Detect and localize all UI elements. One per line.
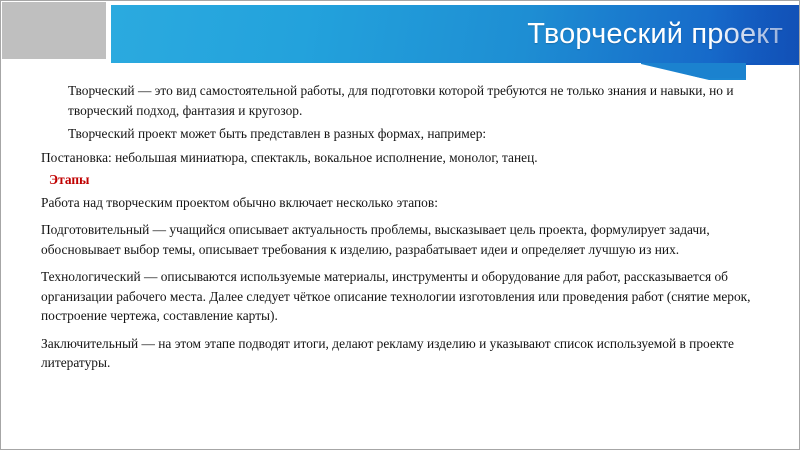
stages-heading: Этапы xyxy=(41,170,783,190)
header-tab-shape xyxy=(641,63,800,80)
stage-paragraph-final: Заключительный — на этом этапе подводят … xyxy=(41,334,783,373)
list-item: Творческий — это вид самостоятельной раб… xyxy=(41,81,783,120)
forms-line: Постановка: небольшая миниатюра, спектак… xyxy=(41,148,783,168)
header-gray-block xyxy=(2,2,106,59)
header-band: Творческий проект xyxy=(111,5,800,63)
slide-body: Творческий — это вид самостоятельной раб… xyxy=(1,81,800,373)
stage-paragraph-preparatory: Подготовительный — учащийся описывает ак… xyxy=(41,220,783,259)
list-item: Творческий проект может быть представлен… xyxy=(41,124,783,144)
list-item-text: Творческий — это вид самостоятельной раб… xyxy=(68,83,734,118)
page-title: Творческий проект xyxy=(527,13,783,55)
slide-canvas: Творческий проект Творческий — это вид с… xyxy=(0,0,800,450)
list-item-text: Творческий проект может быть представлен… xyxy=(68,126,486,141)
stage-paragraph-technological: Технологический — описываются используем… xyxy=(41,267,783,326)
stages-intro: Работа над творческим проектом обычно вк… xyxy=(41,193,783,213)
